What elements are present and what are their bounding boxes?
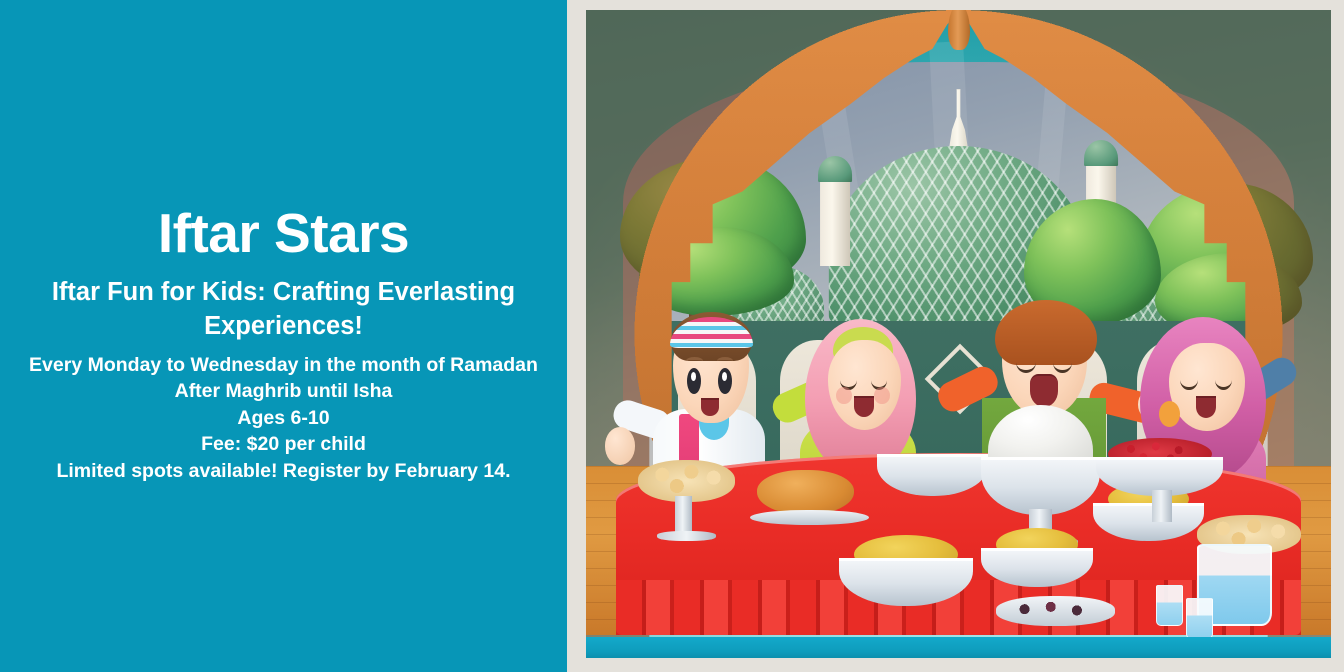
detail-line-registration: Limited spots available! Register by Feb… (18, 458, 549, 485)
cheek (836, 387, 851, 404)
eye-closed (1016, 351, 1036, 373)
eyebrow (717, 357, 733, 365)
page-title: Iftar Stars (18, 204, 549, 262)
minaret-left (820, 178, 850, 266)
arch-top-finial (948, 10, 970, 50)
eye-closed (1053, 351, 1073, 373)
mouth (1030, 374, 1058, 406)
platter-base (750, 510, 869, 526)
poster-subtitle: Iftar Fun for Kids: Crafting Everlasting… (18, 276, 549, 344)
detail-line-time: After Maghrib until Isha (18, 378, 549, 405)
hijab-bow (1159, 401, 1180, 427)
plate-base (657, 531, 717, 541)
bottom-accent-strip (586, 637, 1331, 658)
ramadan-iftar-children-illustration (586, 10, 1331, 658)
eye-shine (722, 372, 727, 381)
plate-stand (675, 496, 691, 535)
poster-detail-list: Every Monday to Wednesday in the month o… (18, 352, 549, 485)
iftar-stars-poster: Iftar Stars Iftar Fun for Kids: Crafting… (0, 0, 1344, 672)
mouth (701, 398, 719, 415)
detail-line-fee: Fee: $20 per child (18, 431, 549, 458)
poster-text-panel: Iftar Stars Iftar Fun for Kids: Crafting… (0, 0, 567, 672)
water-glass-right (1186, 598, 1213, 639)
eye-closed (1180, 370, 1197, 391)
berry-pedestal (1152, 490, 1171, 522)
dessert-plate (996, 596, 1115, 625)
poster-text-stack: Iftar Stars Iftar Fun for Kids: Crafting… (18, 204, 549, 485)
crescent-icon (950, 88, 967, 105)
detail-line-ages: Ages 6-10 (18, 405, 549, 432)
illustration-frame (567, 0, 1344, 672)
detail-line-schedule: Every Monday to Wednesday in the month o… (18, 352, 549, 379)
eyebrow (686, 357, 702, 365)
water-glass-left (1156, 585, 1183, 626)
hair (995, 300, 1097, 365)
cheek (874, 387, 889, 404)
hand (605, 427, 635, 464)
